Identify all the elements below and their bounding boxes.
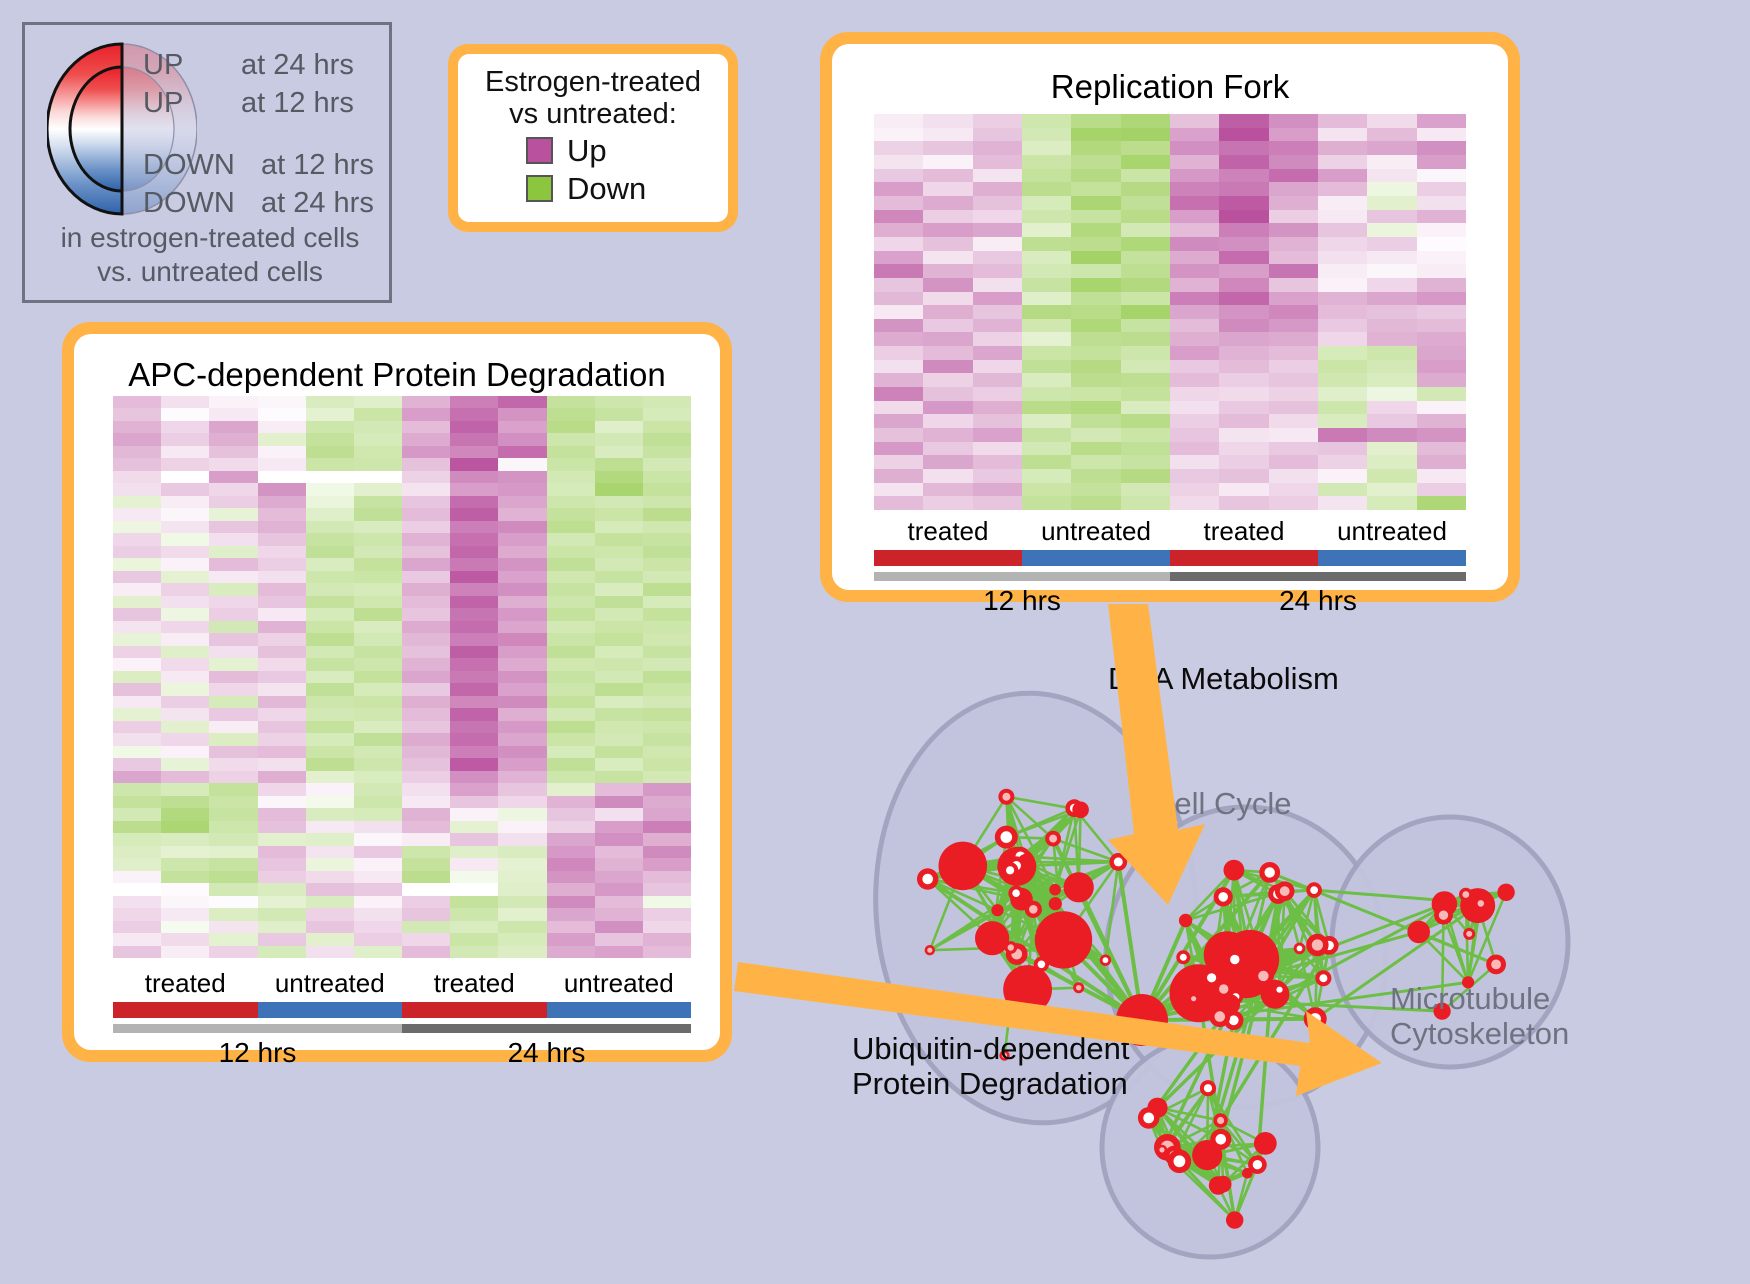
heatmap-cell	[113, 746, 161, 758]
heatmap-cell	[643, 396, 691, 408]
heatmap-cell	[1071, 360, 1120, 374]
heatmap-cell	[402, 521, 450, 534]
heatmap-cell	[547, 846, 595, 858]
network-node-center	[1439, 911, 1448, 920]
timepoint-labels-apc: 12 hrs 24 hrs	[113, 1037, 691, 1069]
heatmap-cell	[258, 458, 306, 470]
network-node[interactable]	[1064, 872, 1094, 902]
heatmap-cell	[1417, 401, 1466, 415]
heatmap-cell	[306, 921, 354, 933]
heatmap-cell	[547, 746, 595, 758]
heatmap-cell	[306, 633, 354, 645]
heatmap-cell	[1318, 237, 1367, 251]
heatmap-cell	[450, 921, 498, 933]
heatmap-cell	[498, 946, 546, 958]
heatmap-cell	[643, 458, 691, 470]
heatmap-cell	[874, 428, 923, 442]
heatmap-cell	[973, 319, 1022, 333]
heatmap-cell	[161, 421, 209, 433]
heatmap-cell	[1121, 223, 1170, 237]
heatmap-cell	[1417, 373, 1466, 387]
heatmap-cell	[402, 471, 450, 484]
heatmap-cell	[1071, 319, 1120, 333]
heatmap-cell	[643, 608, 691, 621]
network-node[interactable]	[1049, 897, 1062, 910]
heatmap-cell	[306, 471, 354, 484]
network-node-center	[1191, 996, 1196, 1001]
heatmap-cell	[643, 671, 691, 683]
heatmap-cell	[1121, 387, 1170, 401]
heatmap-cell	[1170, 155, 1219, 169]
updown-legend-inner: Estrogen-treated vs untreated: Up Down	[458, 54, 728, 222]
heatmap-cell	[498, 508, 546, 520]
timepoint-bar-segment	[1170, 572, 1466, 581]
heatmap-cell	[643, 708, 691, 720]
network-node-center	[1265, 867, 1275, 877]
heatmap-cell	[973, 128, 1022, 142]
heatmap-cell	[161, 846, 209, 858]
heatmap-cell	[547, 621, 595, 633]
heatmap-cell	[1318, 292, 1367, 306]
network-node-center	[1319, 974, 1327, 982]
heatmap-cell	[1022, 251, 1071, 265]
heatmap-cell	[1170, 414, 1219, 428]
heatmap-cell	[1170, 428, 1219, 442]
heatmap-cell	[1121, 496, 1170, 510]
condition-labels-replication-fork: treated untreated treated untreated	[874, 516, 1466, 547]
heatmap-cell	[1318, 114, 1367, 128]
heatmap-cell	[595, 808, 643, 820]
heatmap-cell	[1367, 305, 1416, 319]
heatmap-cell	[450, 458, 498, 470]
heatmap-cell	[306, 496, 354, 508]
heatmap-cell	[595, 396, 643, 408]
heatmap-cell	[498, 658, 546, 670]
network-svg	[790, 612, 1750, 1279]
heatmap-cell	[923, 114, 972, 128]
network-node[interactable]	[1072, 802, 1089, 819]
heatmap-cell	[258, 596, 306, 608]
heatmap-cell	[402, 883, 450, 895]
heatmap-cell	[1121, 401, 1170, 415]
heatmap-cell	[1219, 428, 1268, 442]
heatmap-cell	[450, 596, 498, 608]
heatmap-cell	[1269, 428, 1318, 442]
heatmap-cell	[643, 896, 691, 908]
heatmap-cell	[258, 921, 306, 933]
heatmap-cell	[402, 671, 450, 683]
heatmap-cell	[1269, 483, 1318, 497]
heatmap-cell	[498, 433, 546, 446]
heatmap-cell	[1121, 237, 1170, 251]
heatmap-cell	[113, 421, 161, 433]
heatmap-cell	[402, 933, 450, 945]
heatmap-cell	[402, 833, 450, 845]
network-node[interactable]	[1179, 914, 1192, 927]
heatmap-cell	[402, 483, 450, 495]
heatmap-cell	[161, 496, 209, 508]
heatmap-cell	[306, 483, 354, 495]
heatmap-cell	[1219, 455, 1268, 469]
heatmap-cell	[258, 783, 306, 796]
heatmap-cell	[547, 933, 595, 945]
heatmap-cell	[450, 396, 498, 408]
heatmap-cell	[161, 808, 209, 820]
heatmap-cell	[306, 946, 354, 958]
network-node[interactable]	[1224, 860, 1245, 881]
heatmap-cell	[547, 871, 595, 884]
heatmap-cell	[209, 421, 257, 433]
key-label-up-24: UP	[143, 49, 183, 82]
heatmap-cell	[1367, 251, 1416, 265]
heatmap-cell	[354, 783, 402, 796]
heatmap-cell	[1318, 332, 1367, 346]
heatmap-cell	[973, 332, 1022, 346]
heatmap-cell	[306, 833, 354, 845]
timepoint-bar-apc	[113, 1024, 691, 1033]
heatmap-cell	[1022, 169, 1071, 183]
updown-legend-title: Estrogen-treated vs untreated:	[474, 66, 712, 131]
heatmap-cell	[595, 546, 643, 558]
timepoint-bar-segment	[874, 572, 1170, 581]
heatmap-cell	[1269, 319, 1318, 333]
network-node-center	[1038, 961, 1046, 969]
heatmap-cell	[450, 733, 498, 746]
heatmap-cell	[643, 808, 691, 820]
heatmap-cell	[547, 646, 595, 659]
heatmap-cell	[1269, 305, 1318, 319]
heatmap-cell	[923, 401, 972, 415]
heatmap-cell	[1219, 496, 1268, 510]
condition-bar-segment	[1022, 550, 1170, 566]
heatmap-cell	[547, 821, 595, 834]
heatmap-cell	[547, 471, 595, 484]
heatmap-cell	[1022, 196, 1071, 210]
heatmap-cell	[1071, 401, 1120, 415]
heatmap-cell	[306, 683, 354, 695]
heatmap-cell	[209, 396, 257, 408]
heatmap-cell	[547, 671, 595, 683]
heatmap-cell	[113, 696, 161, 709]
heatmap-cell	[209, 883, 257, 895]
heatmap-cell	[595, 508, 643, 520]
heatmap-cell	[113, 708, 161, 720]
heatmap-cell	[643, 471, 691, 484]
heatmap-cell	[258, 683, 306, 695]
heatmap-cell	[1269, 455, 1318, 469]
heatmap-cell	[113, 458, 161, 470]
heatmap-cell	[306, 733, 354, 746]
heatmap-cell	[1170, 169, 1219, 183]
heatmap-cell	[209, 446, 257, 458]
heatmap-cell	[973, 223, 1022, 237]
heatmap-cell	[1170, 223, 1219, 237]
heatmap-cell	[450, 646, 498, 659]
heatmap-cell	[498, 921, 546, 933]
heatmap-cell	[402, 771, 450, 783]
heatmap-cell	[354, 821, 402, 834]
heatmap-cell	[402, 733, 450, 746]
heatmap-cell	[306, 596, 354, 608]
heatmap-cell	[1219, 469, 1268, 483]
updown-title-line2: vs untreated:	[474, 98, 712, 130]
heatmap-cell	[1121, 319, 1170, 333]
heatmap-cell	[547, 571, 595, 583]
heatmap-cell	[258, 933, 306, 945]
heatmap-cell	[498, 633, 546, 645]
heatmap-replication-fork	[874, 114, 1466, 510]
heatmap-cell	[874, 305, 923, 319]
heatmap-cell	[209, 583, 257, 595]
network-node[interactable]	[1226, 1211, 1243, 1228]
heatmap-cell	[1022, 223, 1071, 237]
timepoint-bar-segment	[402, 1024, 691, 1033]
heatmap-cell	[1121, 155, 1170, 169]
heatmap-cell	[923, 442, 972, 456]
heatmap-cell	[595, 633, 643, 645]
heatmap-cell	[402, 708, 450, 720]
heatmap-cell	[113, 596, 161, 608]
heatmap-cell	[161, 896, 209, 908]
heatmap-cell	[1071, 428, 1120, 442]
heatmap-cell	[1219, 401, 1268, 415]
heatmap-cell	[402, 746, 450, 758]
heatmap-cell	[1071, 128, 1120, 142]
heatmap-cell	[973, 387, 1022, 401]
network-node[interactable]	[1215, 1176, 1232, 1193]
heatmap-cell	[595, 408, 643, 420]
heatmap-cell	[1367, 114, 1416, 128]
heatmap-cell	[258, 558, 306, 571]
heatmap-cell	[1071, 251, 1120, 265]
heatmap-cell	[113, 921, 161, 933]
heatmap-cell	[595, 746, 643, 758]
heatmap-cell	[1219, 292, 1268, 306]
heatmap-cell	[113, 658, 161, 670]
heatmap-cell	[498, 821, 546, 834]
network-node[interactable]	[1407, 921, 1430, 944]
heatmap-cell	[306, 821, 354, 834]
heatmap-cell	[1318, 428, 1367, 442]
heatmap-cell	[1417, 264, 1466, 278]
panel-apc-inner: APC-dependent Protein Degradation treate…	[74, 334, 720, 1050]
heatmap-cell	[258, 671, 306, 683]
heatmap-cell	[1022, 332, 1071, 346]
heatmap-cell	[306, 446, 354, 458]
network-node[interactable]	[991, 904, 1003, 916]
network-node-center	[1049, 835, 1057, 843]
heatmap-cell	[402, 458, 450, 470]
heatmap-cell	[1219, 414, 1268, 428]
heatmap-cell	[874, 237, 923, 251]
heatmap-cell	[450, 721, 498, 733]
legend-label-down: Down	[567, 171, 646, 207]
heatmap-cell	[498, 533, 546, 545]
heatmap-cell	[450, 933, 498, 945]
heatmap-cell	[258, 621, 306, 633]
network-node-center	[1276, 987, 1282, 993]
heatmap-cell	[306, 883, 354, 895]
heatmap-cell	[402, 533, 450, 545]
heatmap-cell	[402, 508, 450, 520]
heatmap-cell	[306, 746, 354, 758]
network-node-center	[1230, 955, 1239, 964]
heatmap-cell	[209, 646, 257, 659]
network-node[interactable]	[939, 842, 988, 891]
key-time-up-12: at 12 hrs	[241, 87, 354, 120]
heatmap-cell	[923, 305, 972, 319]
heatmap-cell	[1367, 141, 1416, 155]
heatmap-cell	[113, 483, 161, 495]
heatmap-cell	[498, 596, 546, 608]
heatmap-cell	[1071, 237, 1120, 251]
heatmap-cell	[1318, 373, 1367, 387]
network-node[interactable]	[1003, 965, 1052, 1014]
heatmap-cell	[973, 114, 1022, 128]
heatmap-cell	[547, 808, 595, 820]
heatmap-cell	[1022, 360, 1071, 374]
heatmap-cell	[450, 808, 498, 820]
heatmap-cell	[1121, 292, 1170, 306]
heatmap-cell	[161, 671, 209, 683]
heatmap-cell	[113, 683, 161, 695]
heatmap-cell	[498, 721, 546, 733]
heatmap-cell	[1417, 442, 1466, 456]
heatmap-cell	[258, 821, 306, 834]
heatmap-cell	[498, 771, 546, 783]
heatmap-cell	[306, 646, 354, 659]
heatmap-cell	[209, 946, 257, 958]
condition-bar-segment	[258, 1002, 403, 1018]
heatmap-cell	[209, 621, 257, 633]
heatmap-cell	[874, 278, 923, 292]
heatmap-cell	[547, 408, 595, 420]
heatmap-cell	[258, 946, 306, 958]
heatmap-cell	[1022, 292, 1071, 306]
heatmap-cell	[595, 483, 643, 495]
heatmap-cell	[1071, 414, 1120, 428]
heatmap-cell	[498, 758, 546, 770]
network-node[interactable]	[1219, 994, 1240, 1015]
heatmap-cell	[498, 671, 546, 683]
heatmap-cell	[973, 360, 1022, 374]
network-node-center	[1253, 1160, 1262, 1169]
heatmap-cell	[113, 821, 161, 834]
heatmap-cell	[161, 871, 209, 884]
swatch-up-icon	[526, 137, 553, 164]
panel-title-apc: APC-dependent Protein Degradation	[74, 356, 720, 394]
heatmap-cell	[258, 396, 306, 408]
heatmap-cell	[1417, 346, 1466, 360]
heatmap-cell	[258, 833, 306, 845]
heatmap-cell	[1170, 251, 1219, 265]
heatmap-cell	[973, 373, 1022, 387]
heatmap-cell	[1318, 210, 1367, 224]
heatmap-cell	[1318, 169, 1367, 183]
heatmap-cell	[354, 471, 402, 484]
heatmap-cell	[1269, 141, 1318, 155]
heatmap-cell	[354, 608, 402, 621]
heatmap-cell	[354, 933, 402, 945]
heatmap-cell	[354, 883, 402, 895]
heatmap-cell	[209, 758, 257, 770]
heatmap-cell	[209, 683, 257, 695]
heatmap-cell	[1170, 305, 1219, 319]
network-node[interactable]	[1254, 1132, 1277, 1155]
heatmap-cell	[1121, 442, 1170, 456]
heatmap-cell	[1417, 196, 1466, 210]
heatmap-cell	[209, 833, 257, 845]
heatmap-cell	[1219, 483, 1268, 497]
heatmap-cell	[113, 721, 161, 733]
heatmap-cell	[547, 733, 595, 746]
heatmap-cell	[161, 458, 209, 470]
heatmap-cell	[1318, 496, 1367, 510]
heatmap-cell	[973, 292, 1022, 306]
network-node-center	[1462, 891, 1469, 898]
heatmap-cell	[402, 396, 450, 408]
heatmap-cell	[161, 596, 209, 608]
heatmap-cell	[498, 483, 546, 495]
heatmap-cell	[1022, 455, 1071, 469]
heatmap-cell	[1219, 332, 1268, 346]
heatmap-cell	[547, 508, 595, 520]
heatmap-cell	[547, 521, 595, 534]
heatmap-cell	[1417, 278, 1466, 292]
heatmap-cell	[923, 332, 972, 346]
heatmap-cell	[450, 833, 498, 845]
network-node[interactable]	[1497, 884, 1514, 901]
heatmap-cell	[547, 608, 595, 621]
heatmap-cell	[1121, 346, 1170, 360]
heatmap-cell	[1367, 128, 1416, 142]
heatmap-cell	[1170, 141, 1219, 155]
heatmap-cell	[258, 708, 306, 720]
heatmap-cell	[354, 446, 402, 458]
heatmap-cell	[498, 646, 546, 659]
heatmap-cell	[547, 433, 595, 446]
heatmap-cell	[402, 446, 450, 458]
heatmap-cell	[402, 421, 450, 433]
heatmap-cell	[354, 583, 402, 595]
heatmap-cell	[258, 658, 306, 670]
heatmap-cell	[209, 921, 257, 933]
heatmap-cell	[1417, 292, 1466, 306]
heatmap-cell	[1417, 428, 1466, 442]
updown-title-line1: Estrogen-treated	[474, 66, 712, 98]
heatmap-cell	[1121, 428, 1170, 442]
heatmap-cell	[450, 521, 498, 534]
heatmap-cell	[643, 658, 691, 670]
heatmap-cell	[595, 521, 643, 534]
color-key-footer-line1: in estrogen-treated cells	[25, 221, 395, 255]
heatmap-cell	[498, 521, 546, 534]
network-node[interactable]	[1049, 884, 1061, 896]
heatmap-cell	[1367, 155, 1416, 169]
heatmap-cell	[209, 783, 257, 796]
network-node[interactable]	[975, 921, 1009, 955]
heatmap-cell	[1318, 305, 1367, 319]
heatmap-cell	[1170, 469, 1219, 483]
heatmap-cell	[498, 896, 546, 908]
heatmap-cell	[209, 571, 257, 583]
heatmap-cell	[1170, 196, 1219, 210]
heatmap-cell	[973, 428, 1022, 442]
heatmap-cell	[258, 771, 306, 783]
heatmap-cell	[1318, 469, 1367, 483]
heatmap-cell	[450, 408, 498, 420]
heatmap-cell	[258, 571, 306, 583]
